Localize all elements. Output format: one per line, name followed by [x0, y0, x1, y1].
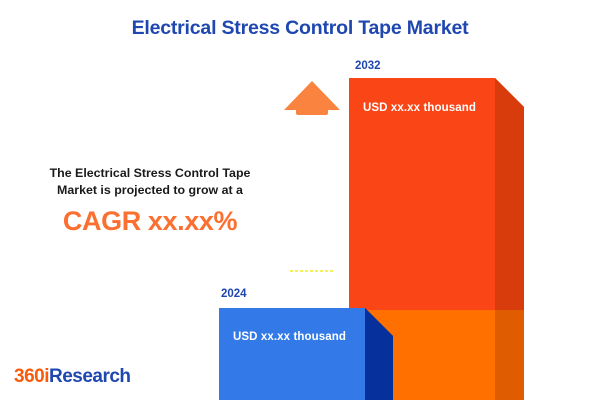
- bar-2024[interactable]: USD xx.xx thousand: [219, 308, 393, 400]
- brand-logo-part-2: Research: [49, 366, 131, 387]
- bar-2032-value-label: USD xx.xx thousand: [363, 102, 476, 114]
- cagr-lead-line-2: Market is projected to grow at a: [12, 182, 288, 199]
- cagr-lead-line-1: The Electrical Stress Control Tape: [12, 165, 288, 182]
- bar-2024-front-face: [219, 308, 365, 400]
- brand-logo[interactable]: 360iResearch: [14, 366, 131, 388]
- bar-2024-value-label: USD xx.xx thousand: [233, 331, 346, 343]
- bar-year-label-2024: 2024: [221, 288, 247, 300]
- cagr-value: CAGR xx.xx%: [12, 206, 288, 237]
- bar-year-label-2032: 2032: [355, 60, 381, 72]
- growth-arrow-icon: [283, 80, 341, 300]
- cagr-lead-text: The Electrical Stress Control Tape Marke…: [12, 165, 288, 199]
- infographic-canvas: Electrical Stress Control Tape Market: [0, 0, 600, 400]
- brand-logo-part-1: 360i: [14, 366, 49, 387]
- page-title: Electrical Stress Control Tape Market: [0, 17, 600, 40]
- cagr-callout: The Electrical Stress Control Tape Marke…: [12, 165, 288, 237]
